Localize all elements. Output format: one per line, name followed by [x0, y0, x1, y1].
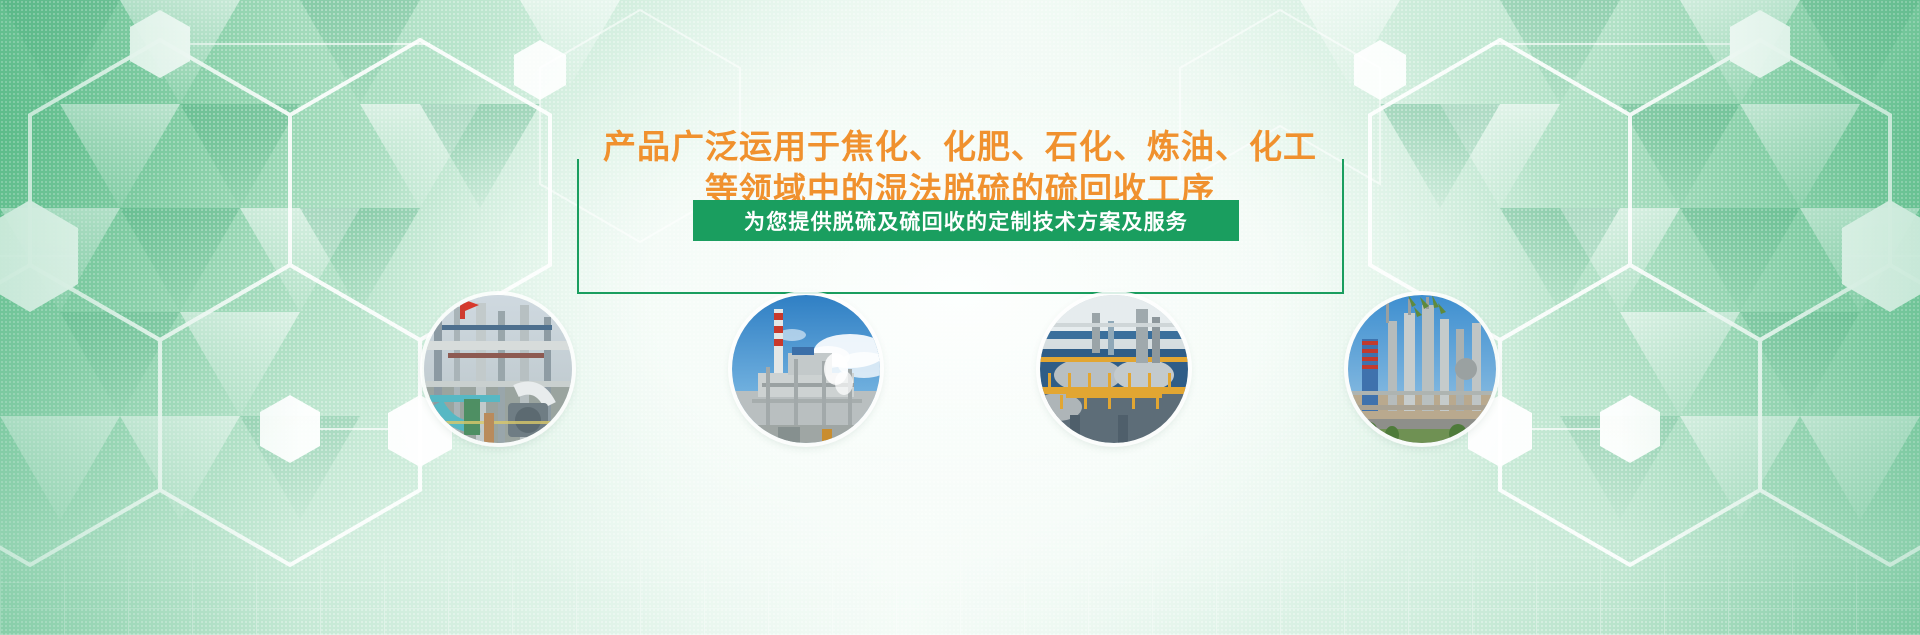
subtitle-text: 为您提供脱硫及硫回收的定制技术方案及服务 — [744, 206, 1188, 236]
photo-plant-with-smokestack[interactable] — [732, 295, 880, 443]
photo-refinery-columns[interactable] — [1348, 295, 1496, 443]
headline: 产品广泛运用于焦化、化肥、石化、炼油、化工 等领域中的湿法脱硫的硫回收工序 — [560, 126, 1360, 212]
photo-desulfurization-pipework[interactable] — [424, 295, 572, 443]
banner-content: 产品广泛运用于焦化、化肥、石化、炼油、化工 等领域中的湿法脱硫的硫回收工序 为您… — [0, 0, 1920, 635]
photo-pressure-vessels[interactable] — [1040, 295, 1188, 443]
photo-strip — [424, 295, 1496, 443]
promo-banner: 产品广泛运用于焦化、化肥、石化、炼油、化工 等领域中的湿法脱硫的硫回收工序 为您… — [0, 0, 1920, 635]
subtitle-bar: 为您提供脱硫及硫回收的定制技术方案及服务 — [693, 200, 1239, 241]
headline-line-1: 产品广泛运用于焦化、化肥、石化、炼油、化工 — [560, 126, 1360, 169]
